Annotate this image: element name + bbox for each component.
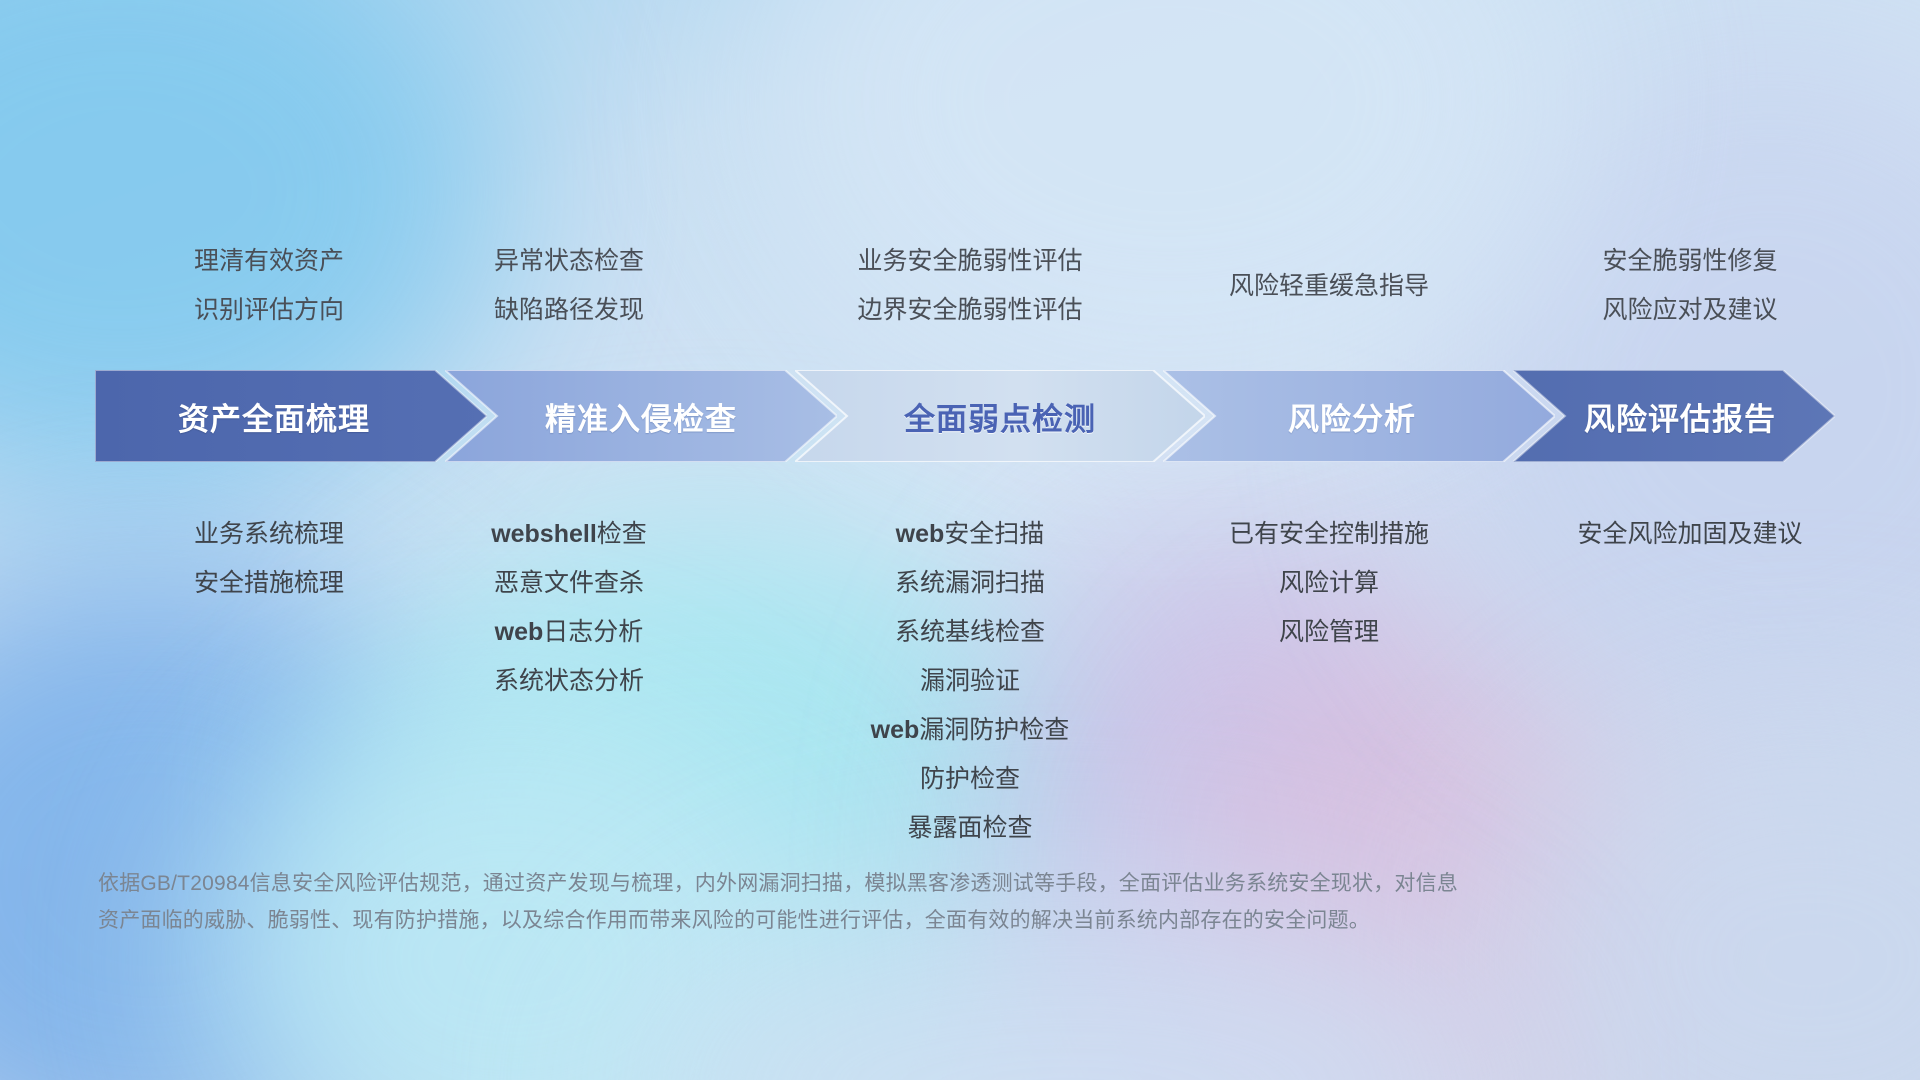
- bottom-item: 漏洞验证: [775, 657, 1165, 706]
- bottom-item: webshell检查: [395, 510, 743, 559]
- footer-description: 依据GB/T20984信息安全风险评估规范，通过资产发现与梳理，内外网漏洞扫描，…: [98, 865, 1598, 939]
- bottom-item: 防护检查: [775, 755, 1165, 804]
- footer-line-2: 资产面临的威胁、脆弱性、现有防护措施，以及综合作用而带来风险的可能性进行评估，全…: [98, 902, 1598, 939]
- bottom-item: 恶意文件查杀: [395, 559, 743, 608]
- top-items-risk-analysis: 风险轻重缓急指导: [1155, 262, 1503, 311]
- bottom-items-intrusion-check: webshell检查 恶意文件查杀 web日志分析 系统状态分析: [395, 510, 743, 706]
- top-item: 风险应对及建议: [1490, 286, 1890, 335]
- bottom-items-risk-analysis: 已有安全控制措施 风险计算 风险管理: [1155, 510, 1503, 657]
- chevron-stage-4[interactable]: 风险分析: [1163, 370, 1555, 462]
- chevron-label: 风险评估报告: [1513, 394, 1835, 439]
- process-chevron-band: 资产全面梳理 精准入侵检查: [95, 370, 1835, 462]
- bottom-item-cjk: 系统基线检查: [895, 618, 1045, 646]
- top-item: 理清有效资产: [95, 237, 443, 286]
- bottom-item: web日志分析: [395, 608, 743, 657]
- bottom-items-asset-inventory: 业务系统梳理 安全措施梳理: [95, 510, 443, 608]
- top-item: 缺陷路径发现: [395, 286, 743, 335]
- bottom-item: 系统基线检查: [775, 608, 1165, 657]
- top-item: 识别评估方向: [95, 286, 443, 335]
- top-item: 异常状态检查: [395, 237, 743, 286]
- top-items-asset-inventory: 理清有效资产 识别评估方向: [95, 237, 443, 335]
- chevron-stage-3[interactable]: 全面弱点检测: [795, 370, 1205, 462]
- bottom-items-weakness-detection: web安全扫描 系统漏洞扫描 系统基线检查 漏洞验证 web漏洞防护检查 防护检…: [775, 510, 1165, 853]
- bottom-item: 安全风险加固及建议: [1490, 510, 1890, 559]
- bottom-item: 业务系统梳理: [95, 510, 443, 559]
- top-item: 业务安全脆弱性评估: [775, 237, 1165, 286]
- chevron-label: 精准入侵检查: [445, 394, 837, 439]
- bottom-item-latin: web: [871, 716, 920, 744]
- chevron-stage-5[interactable]: 风险评估报告: [1513, 370, 1835, 462]
- bottom-item-cjk: 日志分析: [543, 618, 643, 646]
- chevron-label: 全面弱点检测: [795, 394, 1205, 439]
- bottom-item: 风险管理: [1155, 608, 1503, 657]
- bottom-item: 已有安全控制措施: [1155, 510, 1503, 559]
- bottom-item-cjk: 检查: [597, 520, 647, 548]
- bottom-item-cjk: 暴露面检查: [907, 814, 1032, 842]
- top-items-intrusion-check: 异常状态检查 缺陷路径发现: [395, 237, 743, 335]
- bottom-item: web漏洞防护检查: [775, 706, 1165, 755]
- bottom-item-cjk: 安全扫描: [944, 520, 1044, 548]
- bottom-item-cjk: 恶意文件查杀: [494, 569, 644, 597]
- top-item: 边界安全脆弱性评估: [775, 286, 1165, 335]
- bottom-item: 安全措施梳理: [95, 559, 443, 608]
- top-items-weakness-detection: 业务安全脆弱性评估 边界安全脆弱性评估: [775, 237, 1165, 335]
- bottom-item-cjk: 系统漏洞扫描: [895, 569, 1045, 597]
- footer-line-1: 依据GB/T20984信息安全风险评估规范，通过资产发现与梳理，内外网漏洞扫描，…: [98, 865, 1598, 902]
- chevron-stage-1[interactable]: 资产全面梳理: [95, 370, 487, 462]
- bottom-item: web安全扫描: [775, 510, 1165, 559]
- bottom-item: 暴露面检查: [775, 804, 1165, 853]
- slide-canvas: 理清有效资产 识别评估方向 业务系统梳理 安全措施梳理 异常状态检查 缺陷路径发…: [0, 0, 1920, 1080]
- chevron-stage-2[interactable]: 精准入侵检查: [445, 370, 837, 462]
- bottom-item: 系统状态分析: [395, 657, 743, 706]
- bottom-item-latin: webshell: [491, 520, 597, 548]
- bottom-item: 系统漏洞扫描: [775, 559, 1165, 608]
- bottom-item: 风险计算: [1155, 559, 1503, 608]
- bottom-item-latin: web: [495, 618, 544, 646]
- bottom-item-cjk: 系统状态分析: [494, 667, 644, 695]
- bottom-item-cjk: 漏洞防护检查: [919, 716, 1069, 744]
- top-item: 风险轻重缓急指导: [1155, 262, 1503, 311]
- bottom-item-cjk: 漏洞验证: [920, 667, 1020, 695]
- top-item: 安全脆弱性修复: [1490, 237, 1890, 286]
- bottom-items-assessment-report: 安全风险加固及建议: [1490, 510, 1890, 559]
- top-items-assessment-report: 安全脆弱性修复 风险应对及建议: [1490, 237, 1890, 335]
- chevron-label: 资产全面梳理: [95, 394, 487, 439]
- chevron-label: 风险分析: [1163, 394, 1555, 439]
- bottom-item-cjk: 防护检查: [920, 765, 1020, 793]
- bottom-item-latin: web: [896, 520, 945, 548]
